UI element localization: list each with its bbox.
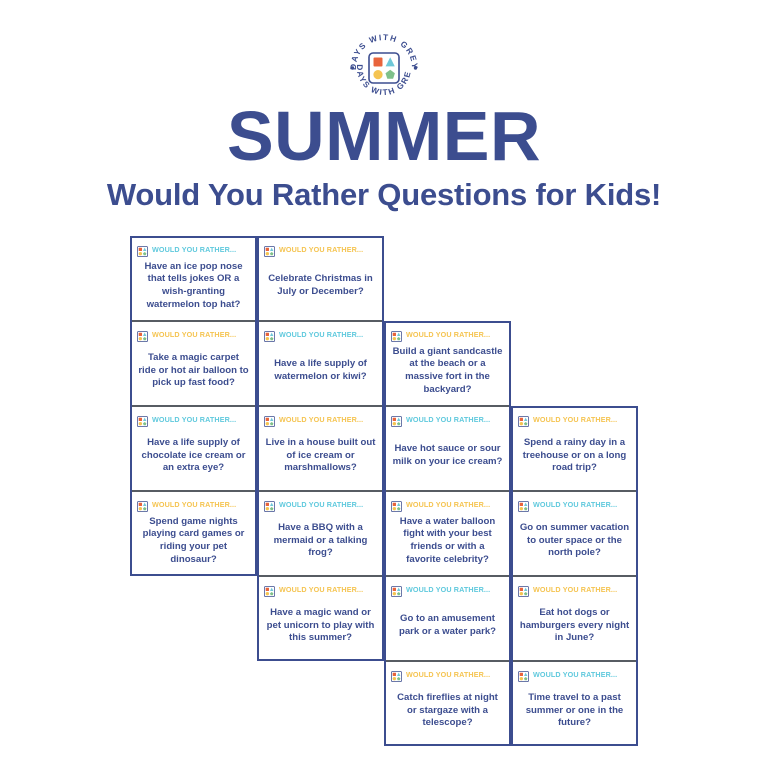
card-header-label: WOULD YOU RATHER...	[533, 670, 617, 679]
card-logo-icon	[264, 584, 275, 595]
card-header-label: WOULD YOU RATHER...	[279, 245, 363, 254]
card-question-text: Have hot sauce or sour milk on your ice …	[391, 426, 504, 486]
card-question-text: Take a magic carpet ride or hot air ball…	[137, 341, 250, 401]
card-logo-icon	[518, 584, 529, 595]
card-header: WOULD YOU RATHER...	[264, 498, 377, 511]
card-question-text: Build a giant sandcastle at the beach or…	[391, 341, 504, 401]
question-card[interactable]: WOULD YOU RATHER...Go on summer vacation…	[511, 491, 638, 576]
card-header-label: WOULD YOU RATHER...	[279, 415, 363, 424]
page-title: SUMMER	[0, 101, 768, 171]
card-header-label: WOULD YOU RATHER...	[279, 500, 363, 509]
card-header: WOULD YOU RATHER...	[391, 328, 504, 341]
question-card[interactable]: WOULD YOU RATHER...Take a magic carpet r…	[130, 321, 257, 406]
question-card[interactable]: WOULD YOU RATHER...Have a water balloon …	[384, 491, 511, 576]
card-question-text: Go on summer vacation to outer space or …	[518, 511, 631, 571]
question-card[interactable]: WOULD YOU RATHER...Time travel to a past…	[511, 661, 638, 746]
card-header: WOULD YOU RATHER...	[264, 583, 377, 596]
question-card[interactable]: WOULD YOU RATHER...Have a BBQ with a mer…	[257, 491, 384, 576]
card-logo-icon	[391, 669, 402, 680]
card-header-label: WOULD YOU RATHER...	[406, 585, 490, 594]
card-header-label: WOULD YOU RATHER...	[279, 330, 363, 339]
question-card[interactable]: WOULD YOU RATHER...Have hot sauce or sou…	[384, 406, 511, 491]
card-logo-icon	[137, 414, 148, 425]
question-card[interactable]: WOULD YOU RATHER...Build a giant sandcas…	[384, 321, 511, 406]
card-question-text: Catch fireflies at night or stargaze wit…	[391, 681, 504, 741]
question-card[interactable]: WOULD YOU RATHER...Celebrate Christmas i…	[257, 236, 384, 321]
card-header: WOULD YOU RATHER...	[137, 498, 250, 511]
card-logo-icon	[391, 584, 402, 595]
card-header: WOULD YOU RATHER...	[518, 498, 631, 511]
card-header: WOULD YOU RATHER...	[391, 668, 504, 681]
card-header-label: WOULD YOU RATHER...	[533, 585, 617, 594]
card-header: WOULD YOU RATHER...	[518, 668, 631, 681]
card-question-text: Live in a house built out of ice cream o…	[264, 426, 377, 486]
card-header: WOULD YOU RATHER...	[137, 243, 250, 256]
card-logo-icon	[264, 499, 275, 510]
card-question-text: Go to an amusement park or a water park?	[391, 596, 504, 656]
card-question-text: Eat hot dogs or hamburgers every night i…	[518, 596, 631, 656]
card-header: WOULD YOU RATHER...	[137, 328, 250, 341]
card-logo-icon	[518, 499, 529, 510]
card-question-text: Have a life supply of chocolate ice crea…	[137, 426, 250, 486]
question-card[interactable]: WOULD YOU RATHER...Live in a house built…	[257, 406, 384, 491]
card-header-label: WOULD YOU RATHER...	[406, 670, 490, 679]
question-card[interactable]: WOULD YOU RATHER...Have an ice pop nose …	[130, 236, 257, 321]
card-header: WOULD YOU RATHER...	[518, 413, 631, 426]
card-question-text: Have an ice pop nose that tells jokes OR…	[137, 256, 250, 316]
card-header: WOULD YOU RATHER...	[264, 413, 377, 426]
card-question-text: Have a life supply of watermelon or kiwi…	[264, 341, 377, 401]
card-header: WOULD YOU RATHER...	[391, 413, 504, 426]
question-card[interactable]: WOULD YOU RATHER...Go to an amusement pa…	[384, 576, 511, 661]
card-header-label: WOULD YOU RATHER...	[152, 330, 236, 339]
card-logo-icon	[137, 329, 148, 340]
card-question-text: Have a water balloon fight with your bes…	[391, 511, 504, 571]
card-header-label: WOULD YOU RATHER...	[406, 415, 490, 424]
card-logo-icon	[137, 499, 148, 510]
card-header: WOULD YOU RATHER...	[391, 498, 504, 511]
days-with-grey-logo-icon: DAYS WITH GREY DAYS WITH GREY	[344, 32, 424, 98]
card-header-label: WOULD YOU RATHER...	[533, 415, 617, 424]
question-card[interactable]: WOULD YOU RATHER...Have a magic wand or …	[257, 576, 384, 661]
question-card[interactable]: WOULD YOU RATHER...Spend a rainy day in …	[511, 406, 638, 491]
card-header: WOULD YOU RATHER...	[137, 413, 250, 426]
card-header-label: WOULD YOU RATHER...	[152, 245, 236, 254]
card-header-label: WOULD YOU RATHER...	[406, 500, 490, 509]
card-logo-icon	[518, 414, 529, 425]
question-card[interactable]: WOULD YOU RATHER...Catch fireflies at ni…	[384, 661, 511, 746]
card-question-text: Have a BBQ with a mermaid or a talking f…	[264, 511, 377, 571]
card-logo-icon	[137, 244, 148, 255]
question-card[interactable]: WOULD YOU RATHER...Have a life supply of…	[257, 321, 384, 406]
question-card-grid: WOULD YOU RATHER...Have an ice pop nose …	[130, 236, 638, 744]
card-question-text: Have a magic wand or pet unicorn to play…	[264, 596, 377, 656]
card-logo-icon	[264, 244, 275, 255]
question-card[interactable]: WOULD YOU RATHER...Eat hot dogs or hambu…	[511, 576, 638, 661]
card-logo-icon	[264, 414, 275, 425]
card-question-text: Celebrate Christmas in July or December?	[264, 256, 377, 316]
card-header: WOULD YOU RATHER...	[264, 328, 377, 341]
card-logo-icon	[518, 669, 529, 680]
page-subtitle: Would You Rather Questions for Kids!	[0, 178, 768, 212]
card-question-text: Spend a rainy day in a treehouse or on a…	[518, 426, 631, 486]
brand-logo: DAYS WITH GREY DAYS WITH GREY	[344, 32, 424, 98]
card-question-text: Spend game nights playing card games or …	[137, 511, 250, 571]
question-card[interactable]: WOULD YOU RATHER...Spend game nights pla…	[130, 491, 257, 576]
card-header: WOULD YOU RATHER...	[264, 243, 377, 256]
card-logo-icon	[391, 329, 402, 340]
card-header-label: WOULD YOU RATHER...	[533, 500, 617, 509]
card-header-label: WOULD YOU RATHER...	[406, 330, 490, 339]
card-question-text: Time travel to a past summer or one in t…	[518, 681, 631, 741]
card-header-label: WOULD YOU RATHER...	[279, 585, 363, 594]
card-header-label: WOULD YOU RATHER...	[152, 500, 236, 509]
card-header-label: WOULD YOU RATHER...	[152, 415, 236, 424]
card-logo-icon	[264, 329, 275, 340]
card-header: WOULD YOU RATHER...	[391, 583, 504, 596]
card-logo-icon	[391, 414, 402, 425]
question-card[interactable]: WOULD YOU RATHER...Have a life supply of…	[130, 406, 257, 491]
card-logo-icon	[391, 499, 402, 510]
card-header: WOULD YOU RATHER...	[518, 583, 631, 596]
